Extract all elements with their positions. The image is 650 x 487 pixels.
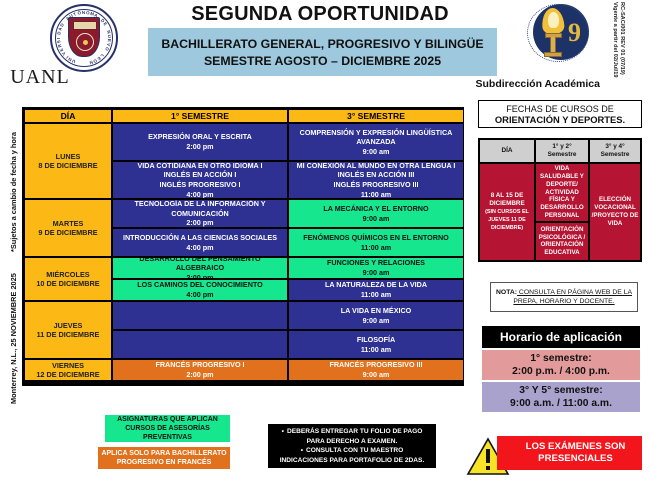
- day-cell: LUNES8 DE DICIEMBRE: [24, 123, 112, 199]
- nota-text: CONSULTA EN PÁGINA WEB DE LA PREPA, HORA…: [513, 289, 632, 305]
- table-row: MARTES9 DE DICIEMBRETECNOLOGÍA DE LA INF…: [24, 199, 462, 257]
- horario-sem1-times: 2:00 p.m. / 4:00 p.m.: [512, 365, 610, 378]
- legend-frances: APLICA SOLO PARA BACHILLERATOPROGRESIVO …: [98, 447, 230, 469]
- subject-time: 11:00 am: [361, 243, 391, 253]
- subject-cell: FENÓMENOS QUÍMICOS EN EL ENTORNO11:00 am: [288, 228, 464, 257]
- day-name: MIÉRCOLES: [46, 270, 89, 280]
- note-place-date: Monterrey, N.L., 25 NOVIEMBRE 2025: [9, 273, 18, 404]
- day-cell: MIÉRCOLES10 DE DICIEMBRE: [24, 257, 112, 301]
- nota-label: NOTA:: [496, 289, 517, 296]
- subject-name: VIDA COTIDIANA EN OTRO IDIOMA I: [138, 161, 263, 170]
- subject-time: 11:00 am: [361, 290, 391, 300]
- poster-root: UNIVERSIDAD AUTÓNOMA DE NUEVO LEÓN UANL …: [0, 0, 650, 487]
- semester-column-3: FRANCÉS PROGRESIVO III9:00 am: [288, 359, 464, 381]
- note-subject-to-change: *Sujetos a cambio de fecha y hora: [9, 132, 18, 252]
- uanl-shield-icon: UNIVERSIDAD AUTÓNOMA DE NUEVO LEÓN: [50, 4, 122, 72]
- document-code-line-1: RC-SAC/001 REV 01 (07/19): [618, 2, 625, 94]
- note-text: DEBERÁS ENTREGAR TU FOLIO DE PAGO: [287, 428, 422, 435]
- subject-name: LA VIDA EN MÉXICO: [341, 306, 412, 316]
- subtitle-band: BACHILLERATO GENERAL, PROGRESIVO Y BILIN…: [148, 28, 497, 76]
- semester-column-1: EXPRESIÓN ORAL Y ESCRITA2:00 pmVIDA COTI…: [112, 123, 288, 199]
- horario-sem35-row: 3° Y 5° semestre: 9:00 a.m. / 11:00 a.m.: [482, 382, 640, 412]
- subject-time: 9:00 am: [363, 147, 390, 157]
- subject-time: 9:00 am: [363, 316, 390, 326]
- horario-sem35-times: 9:00 a.m. / 11:00 a.m.: [510, 397, 612, 410]
- semester-column-3: COMPRENSIÓN Y EXPRESIÓN LINGÜÍSTICA AVAN…: [288, 123, 464, 199]
- day-cell: JUEVES11 DE DICIEMBRE: [24, 301, 112, 359]
- day-name: MARTES: [53, 219, 84, 229]
- subject-cell: FRANCÉS PROGRESIVO III9:00 am: [288, 359, 464, 381]
- bullet-icon: •: [301, 447, 303, 454]
- day-name: JUEVES: [54, 321, 83, 331]
- day-cell: MARTES9 DE DICIEMBRE: [24, 199, 112, 257]
- table-row: VIERNES12 DE DICIEMBREFRANCÉS PROGRESIVO…: [24, 359, 462, 381]
- subject-name: EXPRESIÓN ORAL Y ESCRITA: [148, 132, 252, 142]
- subject-cell: LA MECÁNICA Y EL ENTORNO9:00 am: [288, 199, 464, 228]
- day-date: 10 DE DICIEMBRE: [36, 279, 99, 289]
- horario-sem35-label: 3° Y 5° semestre:: [519, 384, 602, 397]
- note-text: CONSULTA CON TU MAESTRO: [306, 447, 403, 454]
- semester-column-3: LA VIDA EN MÉXICO9:00 amFILOSOFÍA11:00 a…: [288, 301, 464, 359]
- subject-name: MI CONEXIÓN AL MUNDO EN OTRA LENGUA I: [297, 161, 456, 170]
- cursos-date-cell: 8 AL 15 DE DICIEMBRE (SIN CURSOS EL JUEV…: [479, 163, 535, 261]
- table-header-row: DÍA 1° SEMESTRE 3° SEMESTRE: [24, 109, 462, 123]
- horario-aplicacion-title: Horario de aplicación: [482, 326, 640, 348]
- cursos-sem12-course-b: ORIENTACIÓN PSICOLÓGICA / ORIENTACIÓN ED…: [535, 222, 589, 261]
- subject-time: 9:00 am: [363, 370, 390, 380]
- subject-name: INGLÉS PROGRESIVO I: [159, 180, 240, 190]
- column-header-dia: DÍA: [24, 109, 112, 123]
- note-text: INDICACIONES PARA PORTAFOLIO DE 2DAS.: [280, 457, 425, 464]
- subject-cell: TECNOLOGÍA DE LA INFORMACIÓN Y COMUNICAC…: [112, 199, 288, 228]
- legend-line: PROGRESIVO EN FRANCÉS: [117, 458, 212, 468]
- legend-line: CURSOS DE ASESORÍAS: [125, 424, 210, 433]
- subject-cell: FRANCÉS PROGRESIVO I2:00 pm: [112, 359, 288, 381]
- nota-box: NOTA: CONSULTA EN PÁGINA WEB DE LA PREPA…: [490, 282, 638, 312]
- subtitle-line-2: SEMESTRE AGOSTO – DICIEMBRE 2025: [204, 54, 441, 68]
- page-title: SEGUNDA OPORTUNIDAD: [130, 3, 510, 26]
- presencial-line-2: PRESENCIALES: [538, 453, 613, 465]
- presencial-line-1: LOS EXÁMENES SON: [526, 441, 626, 453]
- column-header-sem1: 1° SEMESTRE: [112, 109, 288, 123]
- subject-cell: EXPRESIÓN ORAL Y ESCRITA2:00 pm: [112, 123, 288, 161]
- cursos-header-sem34: 3° y 4° Semestre: [589, 139, 641, 163]
- cursos-date-main: 8 AL 15 DE DICIEMBRE: [482, 192, 532, 208]
- subject-name: TECNOLOGÍA DE LA INFORMACIÓN Y COMUNICAC…: [116, 199, 284, 218]
- semester-column-1: FRANCÉS PROGRESIVO I2:00 pm: [112, 359, 288, 381]
- nota-content: NOTA: CONSULTA EN PÁGINA WEB DE LA PREPA…: [493, 288, 635, 306]
- subject-name: INGLÉS PROGRESIVO III: [333, 180, 418, 190]
- cursos-header-row: DÍA 1° y 2° Semestre 3° y 4° Semestre: [479, 139, 641, 163]
- note-line: •CONSULTA CON TU MAESTRO: [301, 446, 404, 456]
- table-row: LUNES8 DE DICIEMBREEXPRESIÓN ORAL Y ESCR…: [24, 123, 462, 199]
- subject-name: DESARROLLO DEL PENSAMIENTO ALGEBRAICO: [116, 257, 284, 273]
- cursos-sem34-course: ELECCIÓN VOCACIONAL /PROYECTO DE VIDA: [589, 163, 641, 261]
- document-code: RC-SAC/001 REV 01 (07/19) Vigente a part…: [611, 2, 625, 94]
- subject-cell: VIDA COTIDIANA EN OTRO IDIOMA IINGLÉS EN…: [112, 161, 288, 199]
- subject-cell: INTRODUCCIÓN A LAS CIENCIAS SOCIALES4:00…: [112, 228, 288, 257]
- subject-time: 11:00 am: [361, 190, 391, 199]
- day-date: 8 DE DICIEMBRE: [38, 161, 97, 171]
- subject-time: 4:00 pm: [186, 190, 213, 199]
- subject-time: 9:00 am: [363, 214, 390, 224]
- subject-name: INTRODUCCIÓN A LAS CIENCIAS SOCIALES: [123, 233, 277, 243]
- cursos-header-dia: DÍA: [479, 139, 535, 163]
- note-text: PARA DERECHO A EXAMEN.: [307, 438, 398, 445]
- day-name: VIERNES: [52, 361, 84, 371]
- subject-name: FILOSOFÍA: [357, 335, 395, 345]
- table-row: JUEVES11 DE DICIEMBRELA VIDA EN MÉXICO9:…: [24, 301, 462, 359]
- poster-header: UNIVERSIDAD AUTÓNOMA DE NUEVO LEÓN UANL …: [0, 0, 650, 97]
- prepa-number: 9: [568, 18, 581, 48]
- subject-cell: [112, 330, 288, 359]
- subject-time: 11:00 am: [361, 345, 391, 355]
- note-line: •DEBERÁS ENTREGAR TU FOLIO DE PAGO: [282, 427, 423, 437]
- semester-column-3: FUNCIONES Y RELACIONES9:00 amLA NATURALE…: [288, 257, 464, 301]
- legend-line: ASIGNATURAS QUE APLICAN: [117, 415, 218, 424]
- subject-name: COMPRENSIÓN Y EXPRESIÓN LINGÜÍSTICA AVAN…: [292, 128, 460, 147]
- fechas-title-line-1: FECHAS DE CURSOS DE: [506, 104, 614, 114]
- subject-cell: DESARROLLO DEL PENSAMIENTO ALGEBRAICO2:0…: [112, 257, 288, 279]
- subject-time: 2:00 pm: [186, 142, 213, 152]
- cursos-table: DÍA 1° y 2° Semestre 3° y 4° Semestre 8 …: [478, 138, 642, 262]
- uanl-wordmark: UANL: [0, 66, 80, 89]
- horario-sem1-row: 1° semestre: 2:00 p.m. / 4:00 p.m.: [482, 350, 640, 380]
- semester-column-3: LA MECÁNICA Y EL ENTORNO9:00 amFENÓMENOS…: [288, 199, 464, 257]
- notes-box: •DEBERÁS ENTREGAR TU FOLIO DE PAGOPARA D…: [268, 424, 436, 468]
- subject-time: 2:00 pm: [186, 370, 213, 380]
- day-date: 12 DE DICIEMBRE: [36, 370, 99, 380]
- legend-asesorias: ASIGNATURAS QUE APLICANCURSOS DE ASESORÍ…: [105, 415, 230, 442]
- day-date: 9 DE DICIEMBRE: [38, 228, 97, 238]
- fechas-cursos-title: FECHAS DE CURSOS DE ORIENTACIÓN Y DEPORT…: [478, 100, 642, 128]
- legend-line: PREVENTIVAS: [143, 433, 192, 442]
- subdireccion-label: Subdirección Académica: [420, 78, 600, 90]
- subject-name: LA MECÁNICA Y EL ENTORNO: [323, 204, 428, 214]
- semester-column-1: DESARROLLO DEL PENSAMIENTO ALGEBRAICO2:0…: [112, 257, 288, 301]
- day-name: LUNES: [56, 152, 81, 162]
- note-line: INDICACIONES PARA PORTAFOLIO DE 2DAS.: [280, 456, 425, 466]
- cursos-sem12-stack: VIDA SALUDABLE Y DEPORTE/ ACTIVIDAD FÍSI…: [535, 163, 589, 261]
- day-date: 11 DE DICIEMBRE: [37, 330, 100, 340]
- subject-time: 9:00 am: [363, 268, 390, 278]
- subject-name: INGLÉS EN ACCIÓN I: [164, 170, 237, 180]
- subject-name: INGLÉS EN ACCIÓN III: [338, 170, 415, 180]
- cursos-date-note: (SIN CURSOS EL JUEVES 11 DE DICIEMBRE): [482, 208, 532, 232]
- subject-name: FUNCIONES Y RELACIONES: [327, 258, 425, 268]
- bullet-icon: •: [282, 428, 284, 435]
- subject-name: FRANCÉS PROGRESIVO I: [155, 360, 244, 370]
- subject-cell: LOS CAMINOS DEL CONOCIMIENTO4:00 pm: [112, 279, 288, 301]
- subject-name: LA NATURALEZA DE LA VIDA: [325, 280, 427, 290]
- subject-time: 2:00 pm: [186, 218, 213, 228]
- column-header-sem3: 3° SEMESTRE: [288, 109, 464, 123]
- subject-name: LOS CAMINOS DEL CONOCIMIENTO: [137, 280, 263, 290]
- subject-name: FENÓMENOS QUÍMICOS EN EL ENTORNO: [303, 233, 449, 243]
- table-row: MIÉRCOLES10 DE DICIEMBREDESARROLLO DEL P…: [24, 257, 462, 301]
- semester-column-1: TECNOLOGÍA DE LA INFORMACIÓN Y COMUNICAC…: [112, 199, 288, 257]
- presencial-banner: LOS EXÁMENES SON PRESENCIALES: [497, 436, 642, 470]
- semester-column-1: [112, 301, 288, 359]
- exam-schedule-table: DÍA 1° SEMESTRE 3° SEMESTRE LUNES8 DE DI…: [22, 107, 464, 386]
- subject-cell: FUNCIONES Y RELACIONES9:00 am: [288, 257, 464, 279]
- preparatoria-9-torch-icon: 9: [525, 2, 591, 64]
- cursos-sem12-course-a: VIDA SALUDABLE Y DEPORTE/ ACTIVIDAD FÍSI…: [535, 163, 589, 222]
- document-code-line-2: Vigente a partir del 02/Jul/19: [611, 2, 618, 94]
- cursos-header-sem12: 1° y 2° Semestre: [535, 139, 589, 163]
- subject-time: 4:00 pm: [186, 243, 213, 253]
- subject-cell: LA VIDA EN MÉXICO9:00 am: [288, 301, 464, 330]
- subject-cell: MI CONEXIÓN AL MUNDO EN OTRA LENGUA IING…: [288, 161, 464, 199]
- horario-sem1-label: 1° semestre:: [530, 352, 591, 365]
- subject-cell: LA NATURALEZA DE LA VIDA11:00 am: [288, 279, 464, 301]
- note-line: PARA DERECHO A EXAMEN.: [307, 437, 398, 447]
- legend-line: APLICA SOLO PARA BACHILLERATO: [101, 449, 226, 459]
- subject-time: 4:00 pm: [186, 290, 213, 300]
- table-body: LUNES8 DE DICIEMBREEXPRESIÓN ORAL Y ESCR…: [24, 123, 462, 381]
- subject-cell: [112, 301, 288, 330]
- subject-cell: COMPRENSIÓN Y EXPRESIÓN LINGÜÍSTICA AVAN…: [288, 123, 464, 161]
- cursos-body-row: 8 AL 15 DE DICIEMBRE (SIN CURSOS EL JUEV…: [479, 163, 641, 261]
- subject-cell: FILOSOFÍA11:00 am: [288, 330, 464, 359]
- subject-name: FRANCÉS PROGRESIVO III: [329, 360, 422, 370]
- fechas-title-line-2: ORIENTACIÓN Y DEPORTES.: [495, 114, 625, 125]
- subtitle-line-1: BACHILLERATO GENERAL, PROGRESIVO Y BILIN…: [161, 37, 483, 51]
- day-cell: VIERNES12 DE DICIEMBRE: [24, 359, 112, 381]
